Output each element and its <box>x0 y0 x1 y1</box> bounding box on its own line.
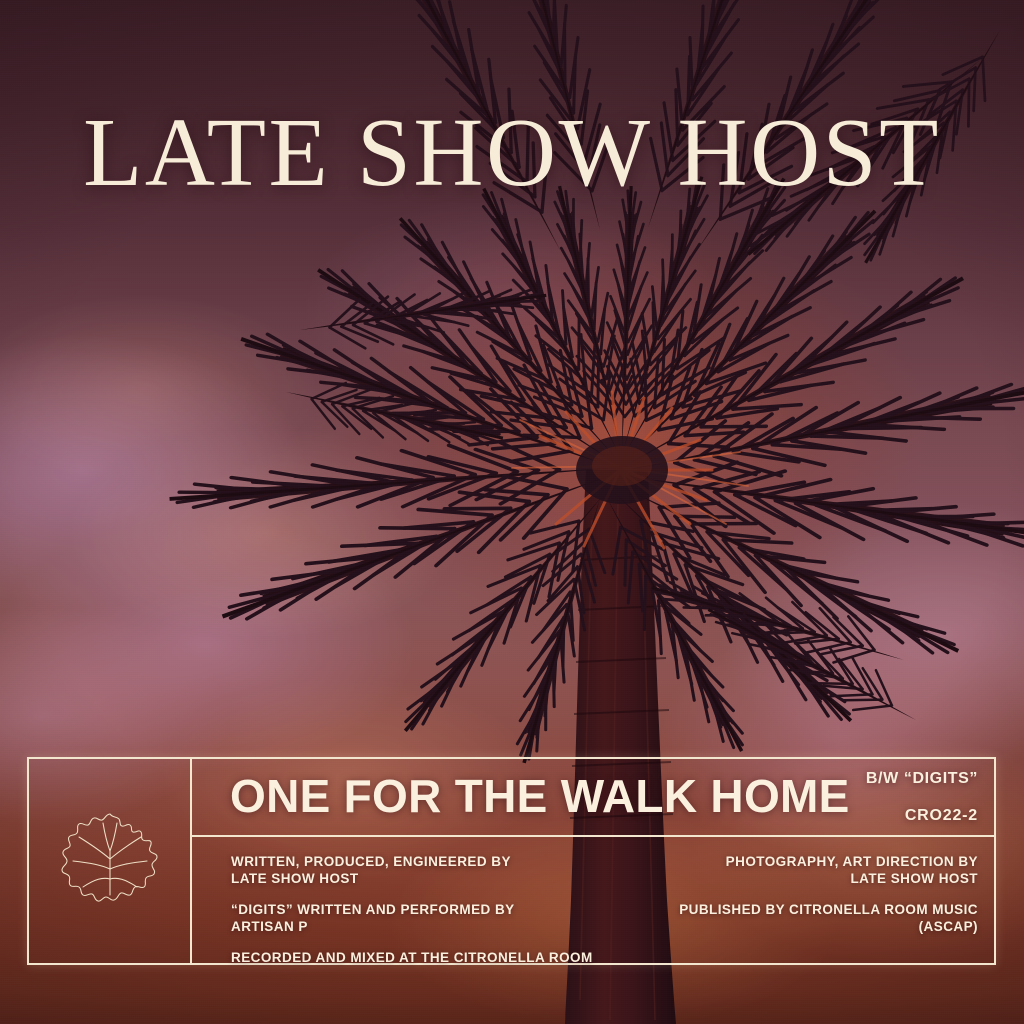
credit-line: LATE SHOW HOST <box>679 870 978 887</box>
credit-line: LATE SHOW HOST <box>231 870 593 887</box>
credit-block: RECORDED AND MIXED AT THE CITRONELLA ROO… <box>231 949 593 966</box>
credit-line: (ASCAP) <box>679 918 978 935</box>
bw-track-label: B/W “DIGITS” <box>866 769 978 788</box>
release-title: ONE FOR THE WALK HOME <box>230 773 850 819</box>
release-side-info: B/W “DIGITS” CRO22-2 <box>866 769 978 825</box>
credit-line: RECORDED AND MIXED AT THE CITRONELLA ROO… <box>231 949 593 966</box>
citronella-leaf-logo-icon <box>55 807 165 915</box>
credit-block: PUBLISHED BY CITRONELLA ROOM MUSIC (ASCA… <box>679 901 978 935</box>
credit-line: WRITTEN, PRODUCED, ENGINEERED BY <box>231 853 593 870</box>
credit-block: WRITTEN, PRODUCED, ENGINEERED BY LATE SH… <box>231 853 593 887</box>
credit-line: “DIGITS” WRITTEN AND PERFORMED BY <box>231 901 593 918</box>
credit-block: PHOTOGRAPHY, ART DIRECTION BY LATE SHOW … <box>679 853 978 887</box>
album-cover: LATE SHOW HOST <box>0 0 1024 1024</box>
credits-column-left: WRITTEN, PRODUCED, ENGINEERED BY LATE SH… <box>231 853 593 963</box>
credits-column-right: PHOTOGRAPHY, ART DIRECTION BY LATE SHOW … <box>679 853 978 963</box>
catalog-number: CRO22-2 <box>866 806 978 825</box>
release-title-row: ONE FOR THE WALK HOME B/W “DIGITS” CRO22… <box>192 759 994 835</box>
label-logo-cell <box>29 759 190 963</box>
artist-name-title: LATE SHOW HOST <box>0 104 1024 201</box>
credit-line: PUBLISHED BY CITRONELLA ROOM MUSIC <box>679 901 978 918</box>
credits-row: WRITTEN, PRODUCED, ENGINEERED BY LATE SH… <box>192 837 994 963</box>
credit-block: “DIGITS” WRITTEN AND PERFORMED BY ARTISA… <box>231 901 593 935</box>
credit-line: PHOTOGRAPHY, ART DIRECTION BY <box>679 853 978 870</box>
release-info-frame: ONE FOR THE WALK HOME B/W “DIGITS” CRO22… <box>27 757 996 965</box>
credit-line: ARTISAN P <box>231 918 593 935</box>
